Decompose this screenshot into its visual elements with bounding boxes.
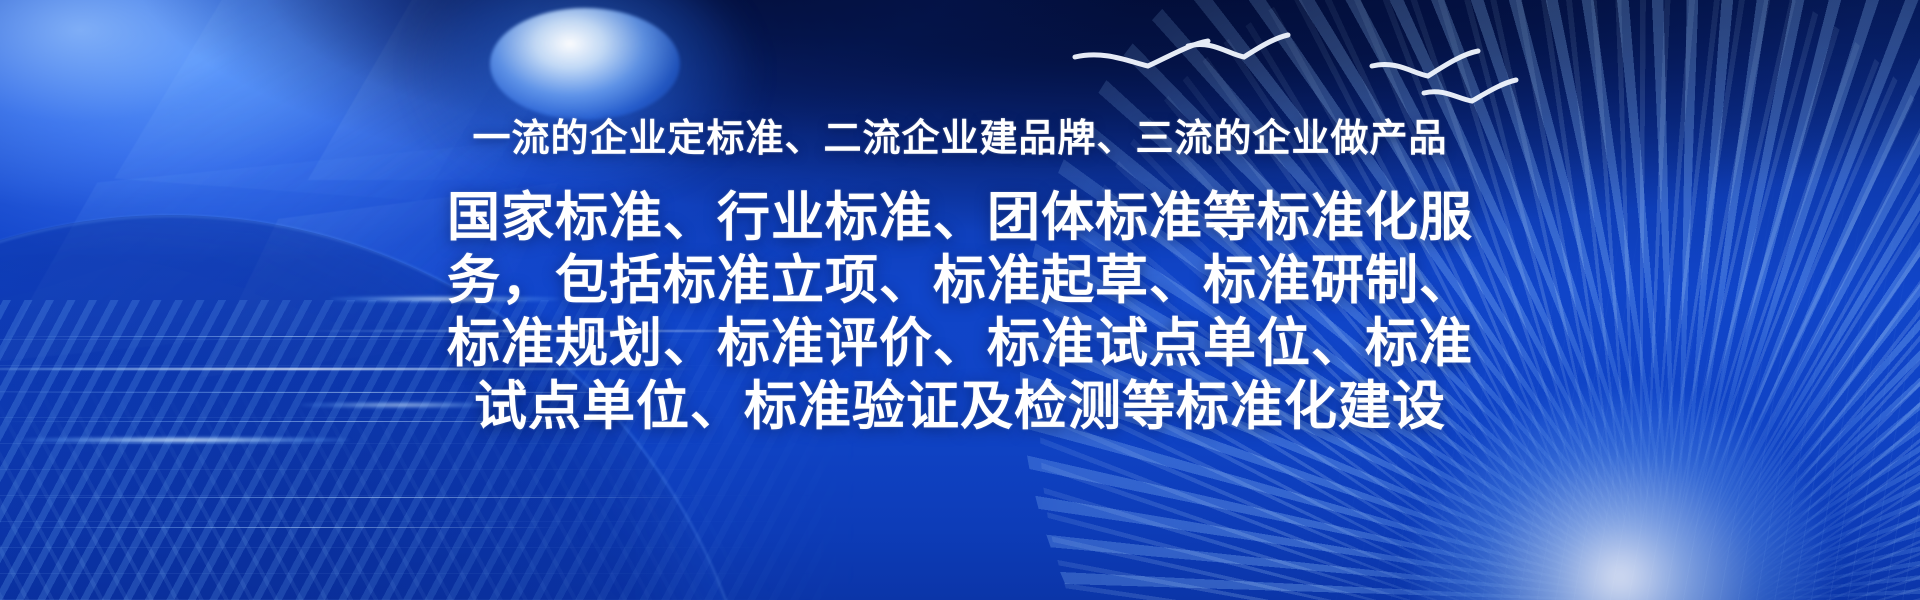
banner-body-line-4: 试点单位、标准验证及检测等标准化建设 — [445, 375, 1475, 438]
banner-body-line-3: 标准规划、标准评价、标准试点单位、标准 — [445, 312, 1475, 375]
banner-body: 国家标准、行业标准、团体标准等标准化服 务，包括标准立项、标准起草、标准研制、 … — [445, 186, 1475, 438]
banner-content: 一流的企业定标准、二流企业建品牌、三流的企业做产品 国家标准、行业标准、团体标准… — [0, 0, 1920, 600]
banner-headline: 一流的企业定标准、二流企业建品牌、三流的企业做产品 — [472, 116, 1447, 162]
banner-body-line-1: 国家标准、行业标准、团体标准等标准化服 — [445, 186, 1475, 249]
banner-body-line-2: 务，包括标准立项、标准起草、标准研制、 — [445, 249, 1475, 312]
promo-banner: 一流的企业定标准、二流企业建品牌、三流的企业做产品 国家标准、行业标准、团体标准… — [0, 0, 1920, 600]
